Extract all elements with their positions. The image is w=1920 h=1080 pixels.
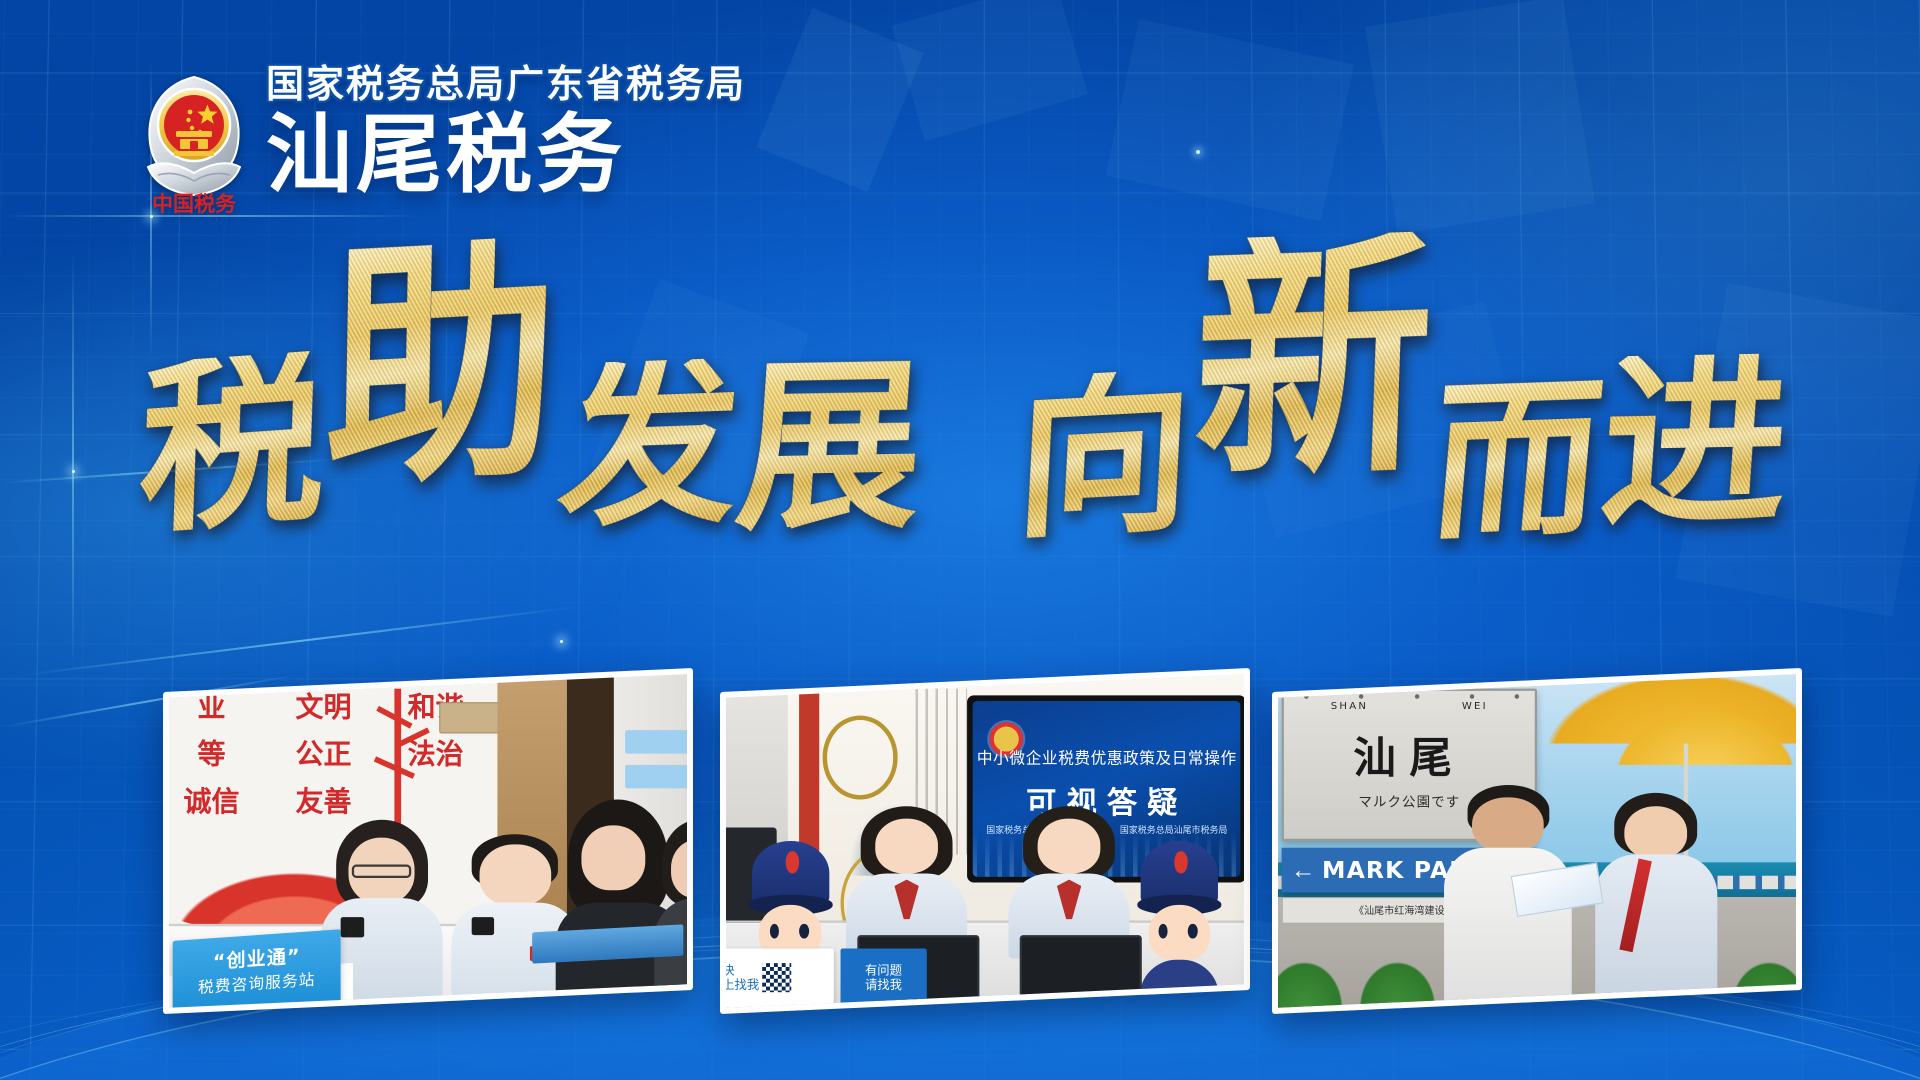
photo-card-seaside-road-sign-outreach[interactable]: SHAN WEI 汕尾 マルク公園です ← MARK PARK 《汕尾市红海湾建…	[1272, 668, 1802, 1014]
sign-romaji-right: WEI	[1462, 701, 1488, 712]
qr-code-icon	[763, 964, 792, 993]
wall-word: 等	[163, 732, 262, 772]
wall-word: 友善	[273, 779, 374, 819]
light-beam-vertical	[72, 250, 74, 670]
qr-card-line1: 解决	[720, 963, 759, 978]
poster-canvas: 中国税务 国家税务总局广东省税务局 汕尾税务 税 助 发 展 向 新 而 进	[0, 0, 1920, 1080]
help-prompt-card: 有问题 请找我	[840, 949, 927, 1008]
screen-title: 中小微企业税费优惠政策及日常操作	[973, 747, 1240, 769]
roadside-shrub	[1272, 952, 1351, 1008]
officer-volunteer	[1595, 792, 1717, 1014]
taxpayer-visitor	[654, 820, 693, 1014]
bureau-subtitle: 国家税务总局广东省税务局	[266, 63, 746, 106]
grid-node	[860, 420, 864, 424]
left-arrow-icon: ←	[1291, 858, 1316, 883]
tax-mascot-right	[1136, 841, 1223, 1001]
photo-gallery: 业 文明 和谐 等 公正 法治 诚信 友善	[0, 672, 1920, 1028]
wall-word: 业	[163, 685, 262, 725]
notice-panel	[625, 730, 689, 754]
decor-ring	[823, 716, 898, 799]
grid-node	[420, 338, 423, 341]
grid-node	[1196, 150, 1200, 154]
counter-sign: “创业通” 税费咨询服务站	[173, 929, 341, 1014]
china-tax-emblem-icon: 中国税务	[140, 55, 248, 215]
brand-text-block: 国家税务总局广东省税务局 汕尾税务	[266, 55, 746, 199]
light-beam	[0, 215, 420, 217]
brand-header: 中国税务 国家税务总局广东省税务局 汕尾税务	[140, 55, 746, 215]
grid-node	[560, 640, 563, 643]
laptop	[1020, 935, 1142, 1001]
page-title: 汕尾税务	[266, 112, 746, 200]
sign-chinese-name: 汕尾	[1284, 723, 1535, 785]
wall-slogan-words: 业 文明 和谐 等 公正 法治 诚信 友善	[163, 685, 486, 819]
help-prompt-line2: 请找我	[865, 978, 902, 993]
wall-word: 公正	[273, 732, 374, 772]
wall-word: 诚信	[163, 779, 262, 819]
wall-word: 文明	[273, 685, 374, 725]
photo-card-tax-service-counter[interactable]: 业 文明 和谐 等 公正 法治 诚信 友善	[163, 668, 693, 1014]
grid-node	[150, 215, 153, 218]
help-prompt-line1: 有问题	[865, 963, 902, 978]
roadside-shrub	[1351, 952, 1444, 1008]
roadside-shrub	[1723, 952, 1802, 1008]
decor-polygon	[1365, 0, 1595, 234]
grid-node	[72, 470, 75, 473]
photo-card-visual-qa-broadcast[interactable]: 中小微企业税费优惠政策及日常操作 可视答疑 国家税务总局汕尾市税务局 国家税务总…	[720, 668, 1250, 1014]
notice-panel	[625, 765, 689, 789]
svg-text:中国税务: 中国税务	[152, 191, 237, 215]
beach-umbrella	[1595, 695, 1802, 764]
qr-card-line2: 码上找我	[720, 978, 759, 993]
qr-info-card: 解决 码上找我	[720, 949, 834, 1008]
sign-romaji-left: SHAN	[1331, 701, 1368, 712]
